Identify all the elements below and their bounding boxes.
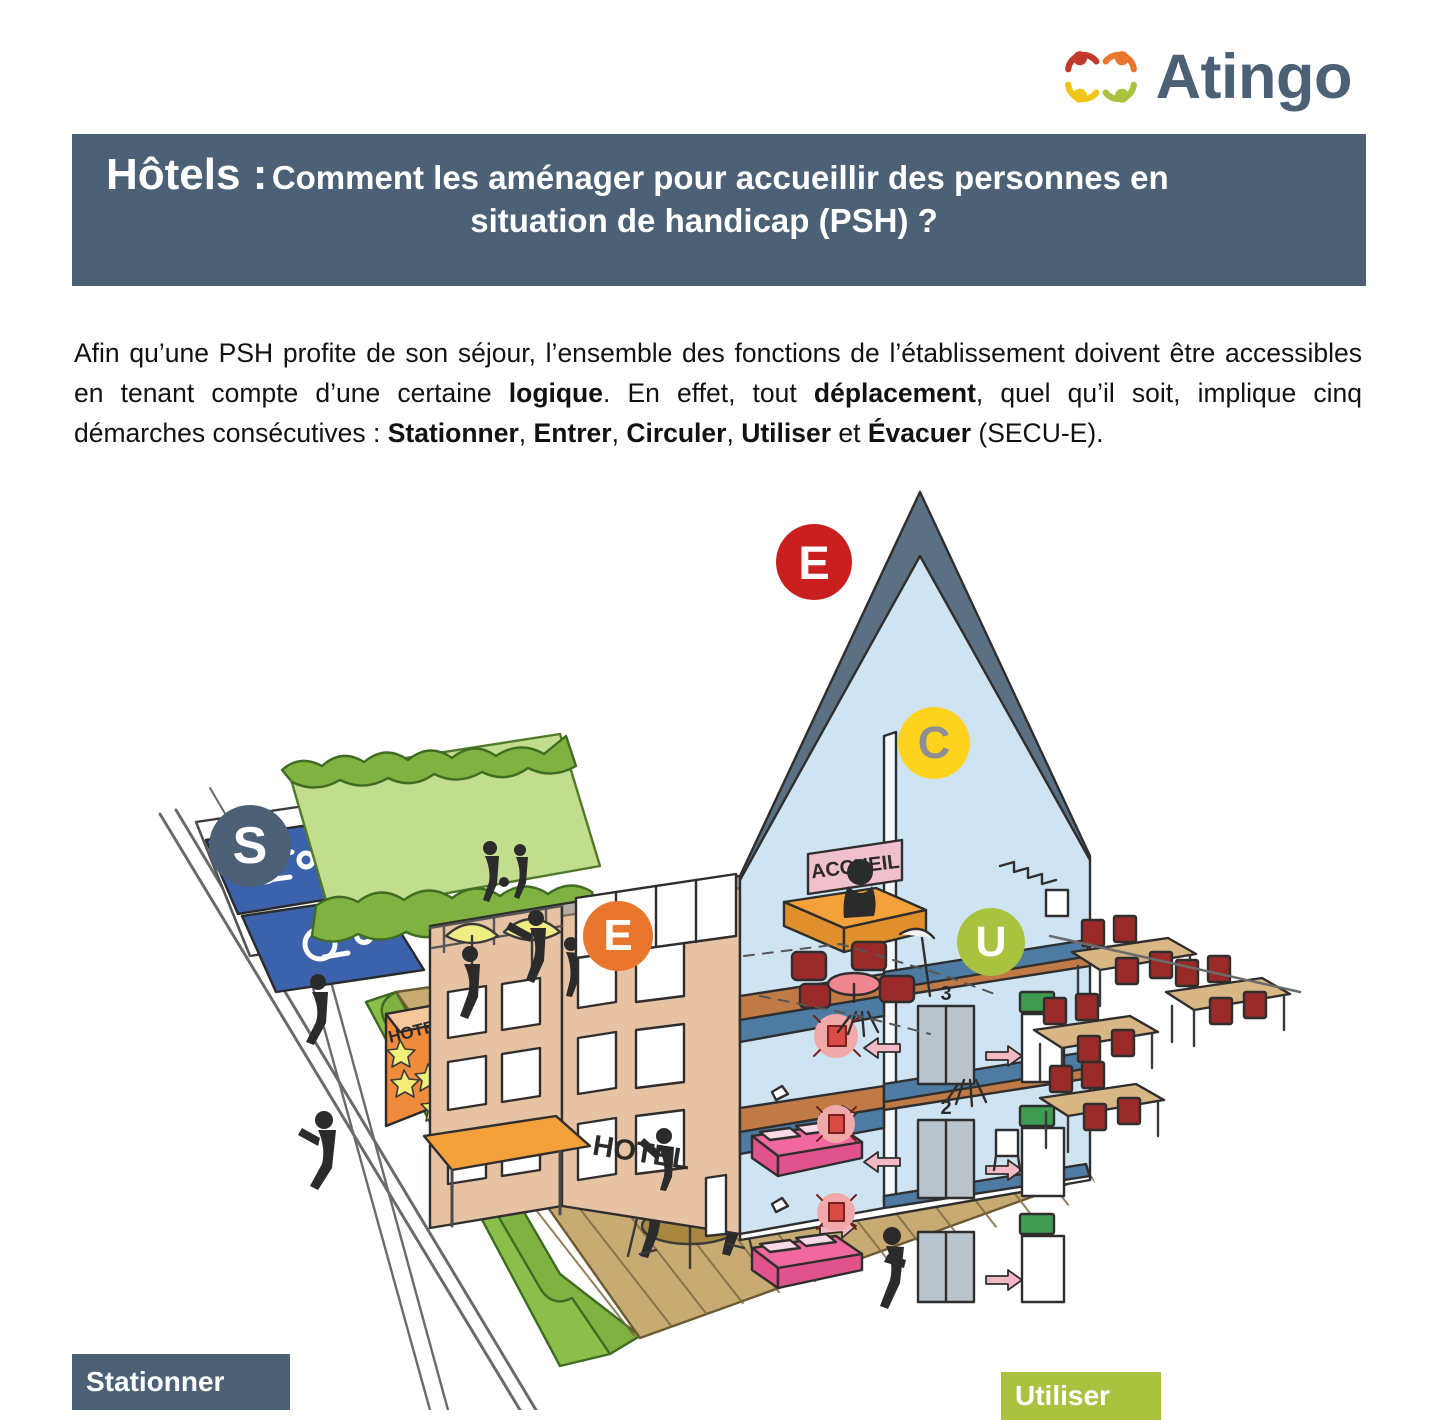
- intro-bold-logique: logique: [509, 378, 603, 408]
- page-title-keyword: Hôtels :: [106, 150, 267, 199]
- page-title-rest: Comment les aménager pour accueillir des…: [272, 159, 1169, 196]
- intro-text-2: . En effet, tout: [603, 378, 814, 408]
- marker-stationner[interactable]: S: [209, 805, 291, 887]
- wheelchair-user-sidewalk: [298, 1111, 336, 1190]
- entrance-door: [706, 1175, 726, 1236]
- marker-evacuer[interactable]: E: [776, 524, 852, 600]
- page-title-line-2: situation de handicap (PSH) ?: [106, 201, 1332, 241]
- brand-name: Atingo: [1156, 46, 1352, 109]
- marker-entrer[interactable]: E: [583, 901, 653, 971]
- page-title-band: Hôtels : Comment les aménager pour accue…: [72, 134, 1366, 286]
- page-title-line-1: Hôtels : Comment les aménager pour accue…: [106, 150, 1332, 199]
- svg-text:3: 3: [940, 983, 951, 1005]
- brand-logo: Atingo: [1062, 38, 1352, 116]
- hotel-isometric-illustration: P P: [0, 436, 1440, 1410]
- marker-circuler[interactable]: C: [898, 707, 970, 779]
- intro-bold-deplacement: déplacement: [814, 378, 976, 408]
- footer-badge-utiliser[interactable]: Utiliser: [1001, 1372, 1161, 1420]
- atingo-pinwheel-logo: [1062, 38, 1140, 116]
- footer-badge-stationner[interactable]: Stationner: [72, 1354, 290, 1410]
- marker-utiliser[interactable]: U: [957, 908, 1025, 976]
